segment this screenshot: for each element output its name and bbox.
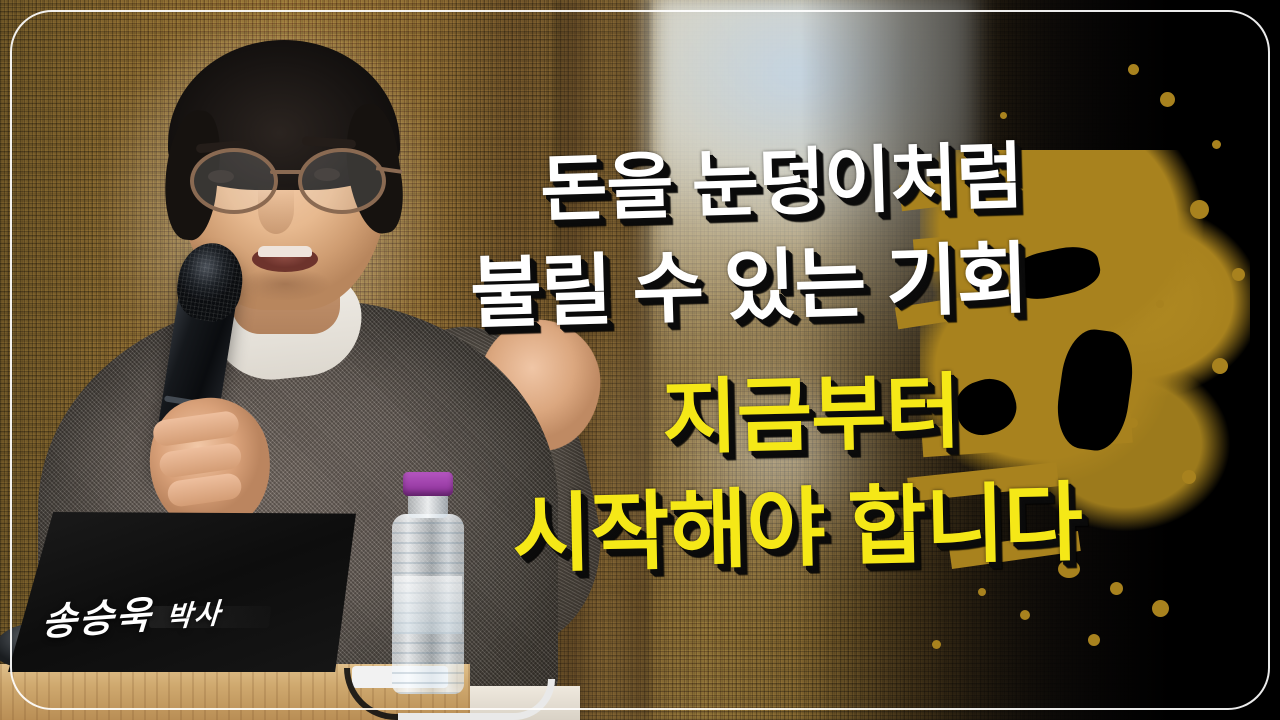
finger bbox=[152, 410, 241, 448]
splatter-droplet bbox=[1088, 634, 1100, 646]
finger bbox=[166, 472, 243, 508]
splatter-droplet bbox=[1182, 470, 1196, 484]
splatter-droplet bbox=[1128, 418, 1138, 428]
lens-right bbox=[298, 148, 386, 214]
splatter-droplet bbox=[1128, 64, 1139, 75]
splatter-droplet bbox=[1212, 358, 1228, 374]
splatter-droplet bbox=[978, 588, 986, 596]
splatter-droplet bbox=[1156, 300, 1164, 308]
splatter-droplet bbox=[1160, 92, 1175, 107]
gold-paint-splatter bbox=[860, 0, 1280, 720]
splatter-droplet bbox=[1212, 140, 1221, 149]
splatter-droplet bbox=[1232, 268, 1245, 281]
teeth bbox=[258, 246, 312, 257]
splatter-droplet bbox=[932, 640, 941, 649]
wall-seam-right bbox=[646, 0, 649, 720]
splatter-droplet bbox=[1110, 582, 1123, 595]
bottle-label bbox=[394, 576, 462, 634]
splatter-droplet bbox=[1190, 200, 1209, 219]
splatter-droplet bbox=[1152, 600, 1169, 617]
signature-title: 박사 bbox=[165, 597, 223, 634]
water-bottle bbox=[392, 514, 464, 694]
splatter-droplet bbox=[1000, 112, 1007, 119]
signature-name: 송승욱 bbox=[40, 591, 154, 644]
splatter-droplet bbox=[1058, 560, 1080, 578]
thumbnail-canvas: 송승욱박사 돈을 눈덩이처럼 불릴 수 있는 기회 지금부터 시작해야 합니다 bbox=[0, 0, 1280, 720]
nose bbox=[258, 186, 294, 234]
splatter-droplet bbox=[1020, 610, 1030, 620]
bottle-cap bbox=[403, 472, 453, 496]
glasses-bridge bbox=[270, 170, 302, 174]
